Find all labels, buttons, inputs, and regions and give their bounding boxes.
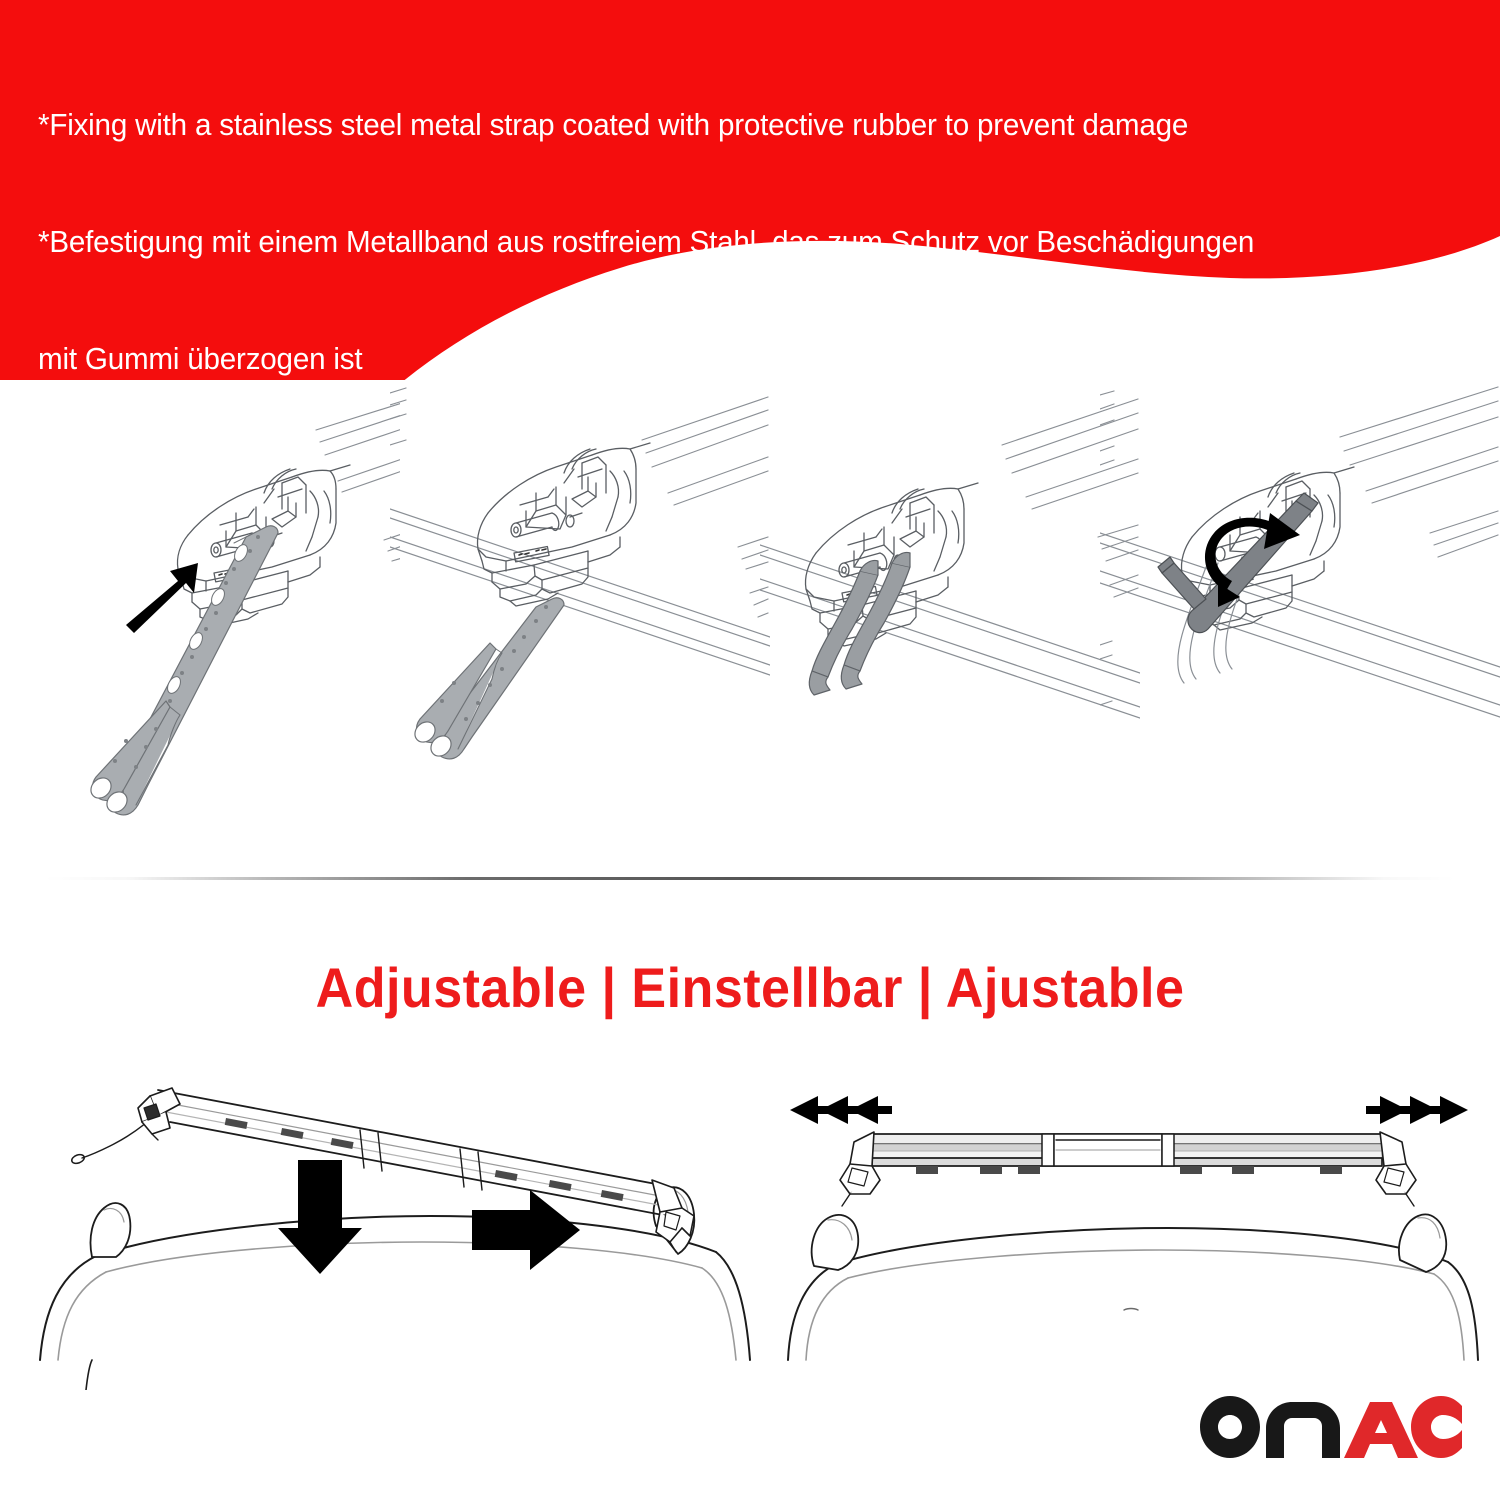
- adjust-diagram-left: [30, 1060, 770, 1390]
- roof-rack-foot: [477, 443, 650, 606]
- crossbar-foot-left: [840, 1132, 880, 1206]
- infographic-page: *Fixing with a stainless steel metal str…: [0, 0, 1500, 1500]
- logo-letter-a: [1344, 1402, 1418, 1458]
- car-roof: [40, 1216, 750, 1390]
- roof-rail: [1100, 533, 1500, 717]
- width-adjust-illustration: [780, 1060, 1480, 1390]
- roof-rail-right: [1399, 1214, 1446, 1272]
- crossbar: [316, 403, 400, 561]
- car-roof: [788, 1228, 1478, 1360]
- step-4-diagram: [1100, 385, 1500, 835]
- logo-letter-o: [1200, 1396, 1260, 1458]
- step-2-diagram: [390, 385, 770, 835]
- step-1-diagram: [20, 385, 400, 835]
- step-3-diagram: [760, 385, 1140, 835]
- roof-rail: [390, 509, 770, 675]
- step-2-illustration: [390, 385, 770, 835]
- crossbar: [390, 388, 768, 617]
- perforated-metal-strap: [411, 598, 564, 760]
- banner-line-3: mit Gummi überzogen ist: [38, 340, 1415, 379]
- section-divider: [45, 877, 1455, 880]
- roof-rail-left: [812, 1215, 859, 1270]
- adjust-diagram-right: [780, 1060, 1480, 1390]
- logo-letter-c: [1411, 1396, 1462, 1458]
- right-arrow-icon: [472, 1190, 580, 1270]
- crossbar-assembly: [840, 1132, 1416, 1206]
- lower-slide-illustration: [30, 1060, 770, 1390]
- step-4-illustration: [1100, 385, 1500, 835]
- down-arrow-icon: [278, 1160, 362, 1274]
- installation-steps-strip: [0, 385, 1500, 835]
- crossbar: [1100, 387, 1498, 705]
- crossbar-foot-right: [1376, 1132, 1416, 1206]
- triple-left-arrow-icon: [790, 1096, 892, 1124]
- red-header-banner: *Fixing with a stainless steel metal str…: [0, 0, 1500, 380]
- omac-logo: [1200, 1396, 1462, 1458]
- adjustable-section-title: Adjustable | Einstellbar | Ajustable: [53, 955, 1448, 1020]
- banner-line-2: *Befestigung mit einem Metallband aus ro…: [38, 223, 1415, 262]
- logo-letter-m: [1266, 1402, 1340, 1458]
- omac-logo-mark: [1200, 1396, 1462, 1458]
- triple-right-arrow-icon: [1366, 1096, 1468, 1124]
- roof-rail-left: [91, 1203, 131, 1257]
- step-1-illustration: [20, 385, 400, 835]
- step-3-illustration: [760, 385, 1140, 835]
- banner-line-1: *Fixing with a stainless steel metal str…: [38, 106, 1415, 145]
- insert-arrow-icon: [126, 563, 198, 633]
